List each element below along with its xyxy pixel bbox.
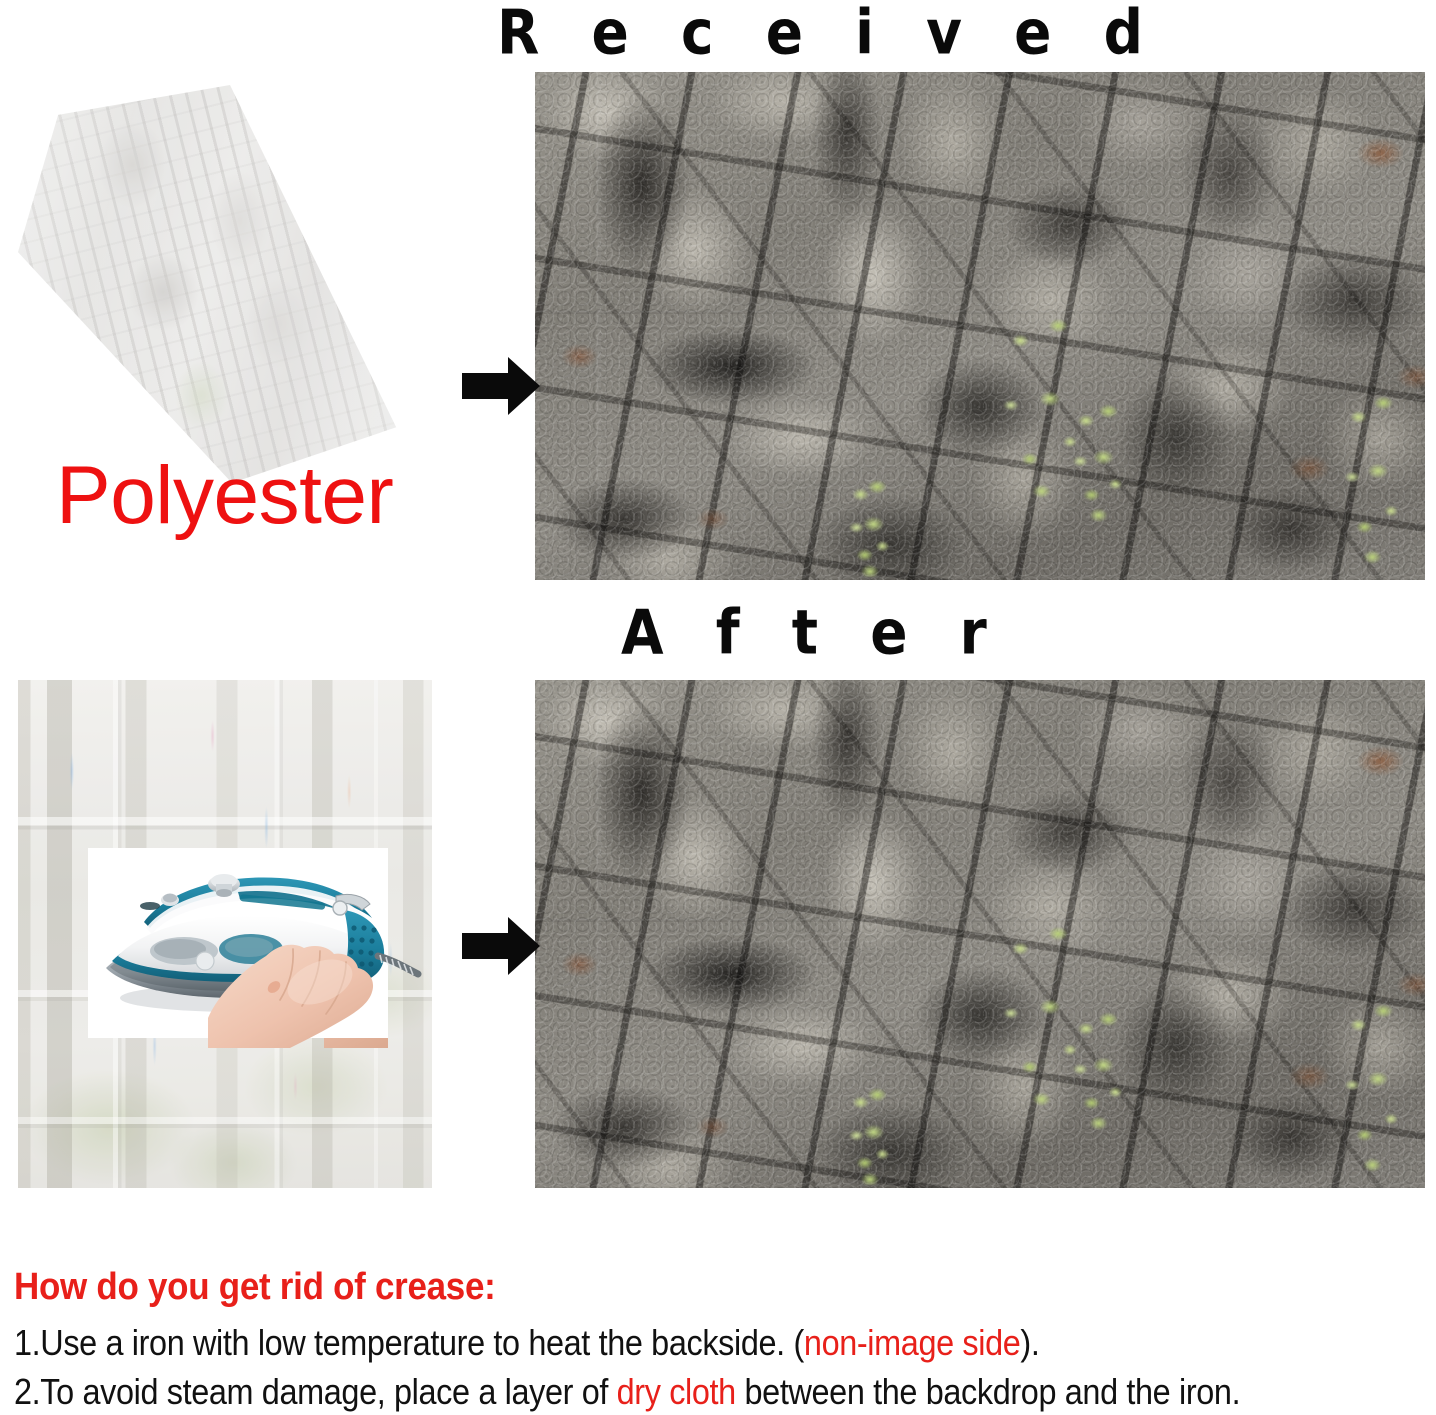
instruction-line-1: 1.Use a iron with low temperature to hea… (14, 1320, 1292, 1367)
iron-demo-photo (88, 848, 388, 1038)
instruction-2-highlight: dry cloth (617, 1371, 736, 1412)
foliage-tuft (845, 467, 897, 577)
instruction-2-text-a: 2.To avoid steam damage, place a layer o… (14, 1371, 617, 1412)
polyester-label: Polyester (56, 455, 393, 537)
arrow-right-icon (462, 355, 540, 417)
instruction-line-2: 2.To avoid steam damage, place a layer o… (14, 1369, 1292, 1415)
after-heading: A f t e r (621, 602, 1003, 664)
foliage-tuft (1335, 975, 1413, 1175)
instructions-block: How do you get rid of crease: 1.Use a ir… (14, 1268, 1434, 1415)
foliage-tuft (1065, 387, 1135, 522)
foliage-tuft (1065, 995, 1135, 1130)
received-heading: R e c e i v e d (497, 2, 1159, 64)
folded-polyester-fabric (18, 85, 400, 483)
foliage-tuft (1335, 367, 1413, 567)
instructions-heading: How do you get rid of crease: (14, 1268, 1320, 1308)
instruction-2-text-b: between the backdrop and the iron. (736, 1371, 1240, 1412)
foliage-tuft (845, 1075, 897, 1185)
received-backdrop-photo (535, 72, 1425, 580)
steam-iron-illustration (88, 848, 388, 1038)
instruction-1-highlight: non-image side (804, 1322, 1020, 1363)
arrow-right-icon (462, 915, 540, 977)
rock-panel-seams (535, 680, 1425, 1188)
instruction-1-text-b: ). (1020, 1322, 1039, 1363)
instruction-1-text-a: 1.Use a iron with low temperature to hea… (14, 1322, 804, 1363)
rock-panel-seams (535, 72, 1425, 580)
after-backdrop-photo (535, 680, 1425, 1188)
